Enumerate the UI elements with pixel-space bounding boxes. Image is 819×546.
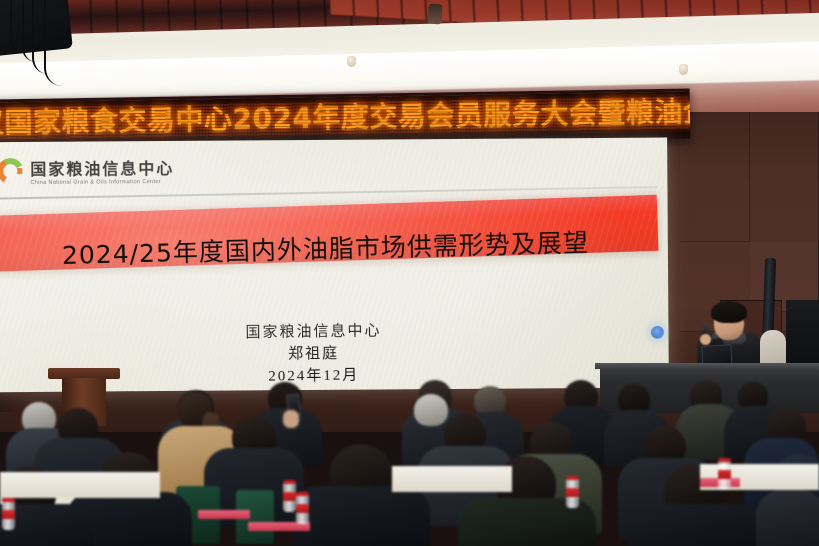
stage-table-top [595,363,819,369]
water-bottle[interactable] [566,476,579,508]
red-folder[interactable] [198,510,250,519]
water-bottle[interactable] [296,492,309,524]
ceiling-fixture [427,4,442,25]
water-bottle[interactable] [718,458,731,490]
audience-table [0,472,160,498]
pendant-light-2 [679,64,688,75]
audience [0,380,819,546]
led-panel: 汉国家粮食交易中心2024年度交易会员服务大会暨粮油企业座谈会 [0,96,688,141]
speaker-hair [711,301,747,323]
audience-hand [283,410,299,428]
ceiling-cable-3 [44,0,62,86]
water-bottle[interactable] [2,498,15,530]
conference-hall-photo: 汉国家粮食交易中心2024年度交易会员服务大会暨粮油企业座谈会 国家粮油信息中心… [0,0,819,546]
water-bottle[interactable] [283,480,296,512]
audience-body-front [628,504,764,546]
audience-body-front [292,486,430,546]
pendant-light-1 [347,56,356,67]
right-dark-panel [786,300,819,372]
pointer-cursor-dot[interactable] [651,326,664,339]
ceiling-cable-4 [10,0,22,52]
audience-head-grey [414,394,448,426]
speaker-hand [700,334,711,345]
led-banner-text: 汉国家粮食交易中心2024年度交易会员服务大会暨粮油企业座谈会 [0,96,690,137]
audience-body-front [756,490,819,546]
audience-table [392,466,512,492]
wall-panel [680,112,750,242]
